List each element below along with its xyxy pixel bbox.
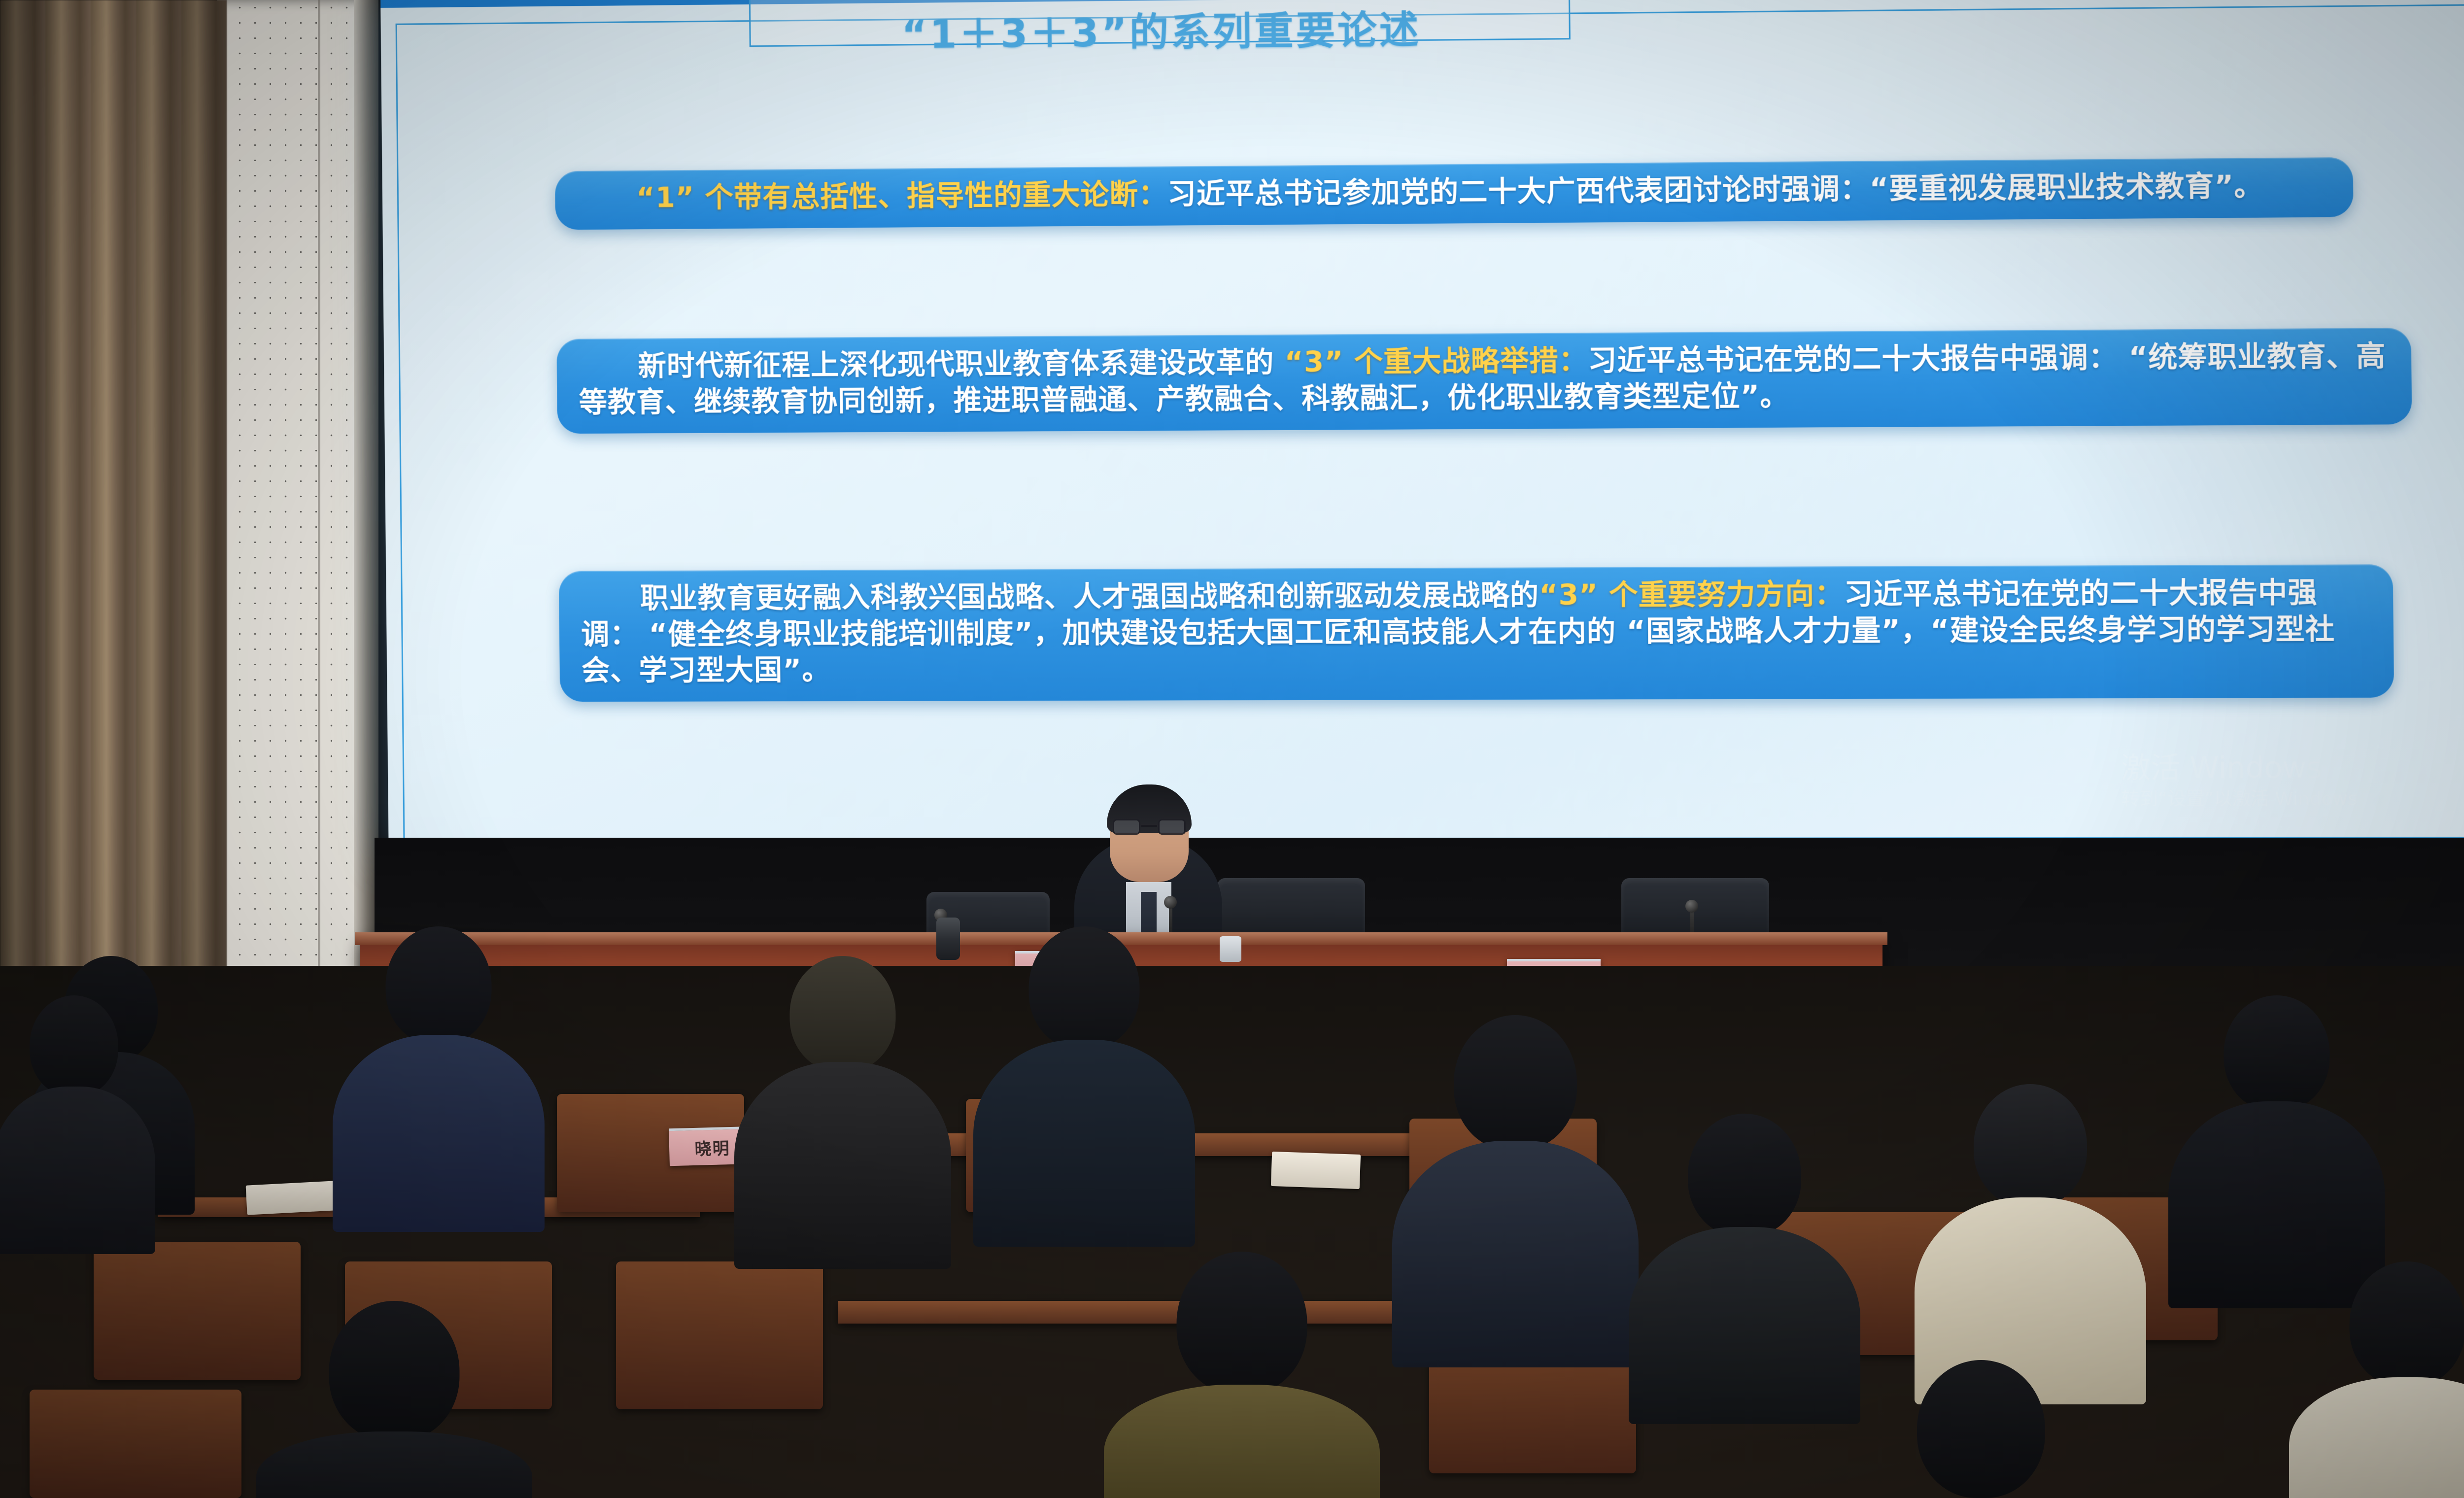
box1-highlight: “1” 个带有总括性、指导性的重大论断： — [636, 178, 1167, 214]
box3-lead: 职业教育更好融入科教兴国战略、人才强国战略和创新驱动发展战略的 — [640, 579, 1540, 615]
speaker-glasses — [1113, 819, 1186, 836]
person-head — [1917, 1360, 2045, 1498]
box1-body: 习近平总书记参加党的二十大广西代表团讨论时强调：“要重视发展职业技术教育”。 — [1167, 170, 2264, 211]
glasses-lens-right — [1158, 819, 1186, 835]
audience-person — [1400, 1015, 1631, 1360]
glasses-bridge — [1141, 825, 1157, 827]
person-shoulders — [1629, 1227, 1860, 1424]
person-head — [329, 1301, 460, 1441]
person-shoulders — [973, 1040, 1195, 1247]
audience-person — [1636, 1114, 1853, 1419]
conference-hall-photo: “1＋3＋3”的系列重要论述 “1” 个带有总括性、指导性的重大论断：习近平总书… — [0, 0, 2464, 1498]
person-shoulders — [734, 1062, 951, 1269]
person-head — [30, 995, 118, 1096]
box2-highlight: “3” 个重大战略举措： — [1284, 344, 1588, 379]
slide-content-box-3: 职业教育更好融入科教兴国战略、人才强国战略和创新驱动发展战略的“3” 个重要努力… — [559, 564, 2394, 702]
box3-highlight: “3” 个重要努力方向： — [1539, 578, 1844, 612]
slide-content-box-2: 新时代新征程上深化现代职业教育体系建设改革的 “3” 个重大战略举措：习近平总书… — [556, 328, 2412, 434]
audience-person — [739, 956, 946, 1261]
audience-person — [266, 1301, 522, 1498]
paper-handout — [1271, 1152, 1361, 1189]
person-head — [2224, 995, 2330, 1111]
audience-person — [2296, 1261, 2464, 1498]
audience-person — [340, 926, 537, 1222]
microphone-head — [1164, 896, 1177, 909]
person-shoulders-light-coat — [2289, 1377, 2464, 1498]
glasses-lens-left — [1113, 819, 1140, 835]
slide-title: “1＋3＋3”的系列重要论述 — [771, 0, 1553, 61]
curtain-shadow — [0, 0, 227, 1035]
person-shoulders — [1104, 1385, 1380, 1498]
person-shoulders — [256, 1431, 532, 1498]
person-head — [1177, 1252, 1307, 1395]
box3-paragraph: 职业教育更好融入科教兴国战略、人才强国战略和创新驱动发展战略的“3” 个重要努力… — [581, 575, 2371, 689]
audience-person — [2178, 995, 2375, 1301]
box1-paragraph: “1” 个带有总括性、指导性的重大论断：习近平总书记参加党的二十大广西代表团讨论… — [577, 168, 2330, 217]
box2-lead: 新时代新征程上深化现代职业教育体系建设改革的 — [638, 346, 1285, 382]
person-shoulders — [1392, 1141, 1639, 1367]
person-head — [1029, 926, 1140, 1050]
person-head — [386, 926, 492, 1045]
audience-seat — [30, 1390, 241, 1498]
audience-person — [1922, 1084, 2139, 1399]
person-head — [1974, 1084, 2087, 1207]
microphone-head — [1685, 900, 1698, 913]
audience-seat — [616, 1261, 823, 1409]
person-head-cap — [790, 956, 896, 1072]
water-cup — [1220, 936, 1241, 962]
person-head — [2350, 1261, 2464, 1387]
person-head — [1688, 1114, 1801, 1237]
person-head — [1454, 1015, 1577, 1151]
audience-person — [0, 995, 148, 1252]
panel-seam — [318, 0, 320, 1025]
audience-person — [981, 926, 1188, 1242]
thermos-flask — [936, 918, 960, 960]
audience-person — [1853, 1360, 2109, 1498]
person-shoulders — [333, 1035, 545, 1232]
person-shoulders — [0, 1087, 155, 1254]
presentation-slide: “1＋3＋3”的系列重要论述 “1” 个带有总括性、指导性的重大论断：习近平总书… — [380, 0, 2464, 855]
box2-paragraph: 新时代新征程上深化现代职业教育体系建设改革的 “3” 个重大战略举措：习近平总书… — [579, 338, 2390, 421]
audience-person — [1114, 1252, 1370, 1498]
